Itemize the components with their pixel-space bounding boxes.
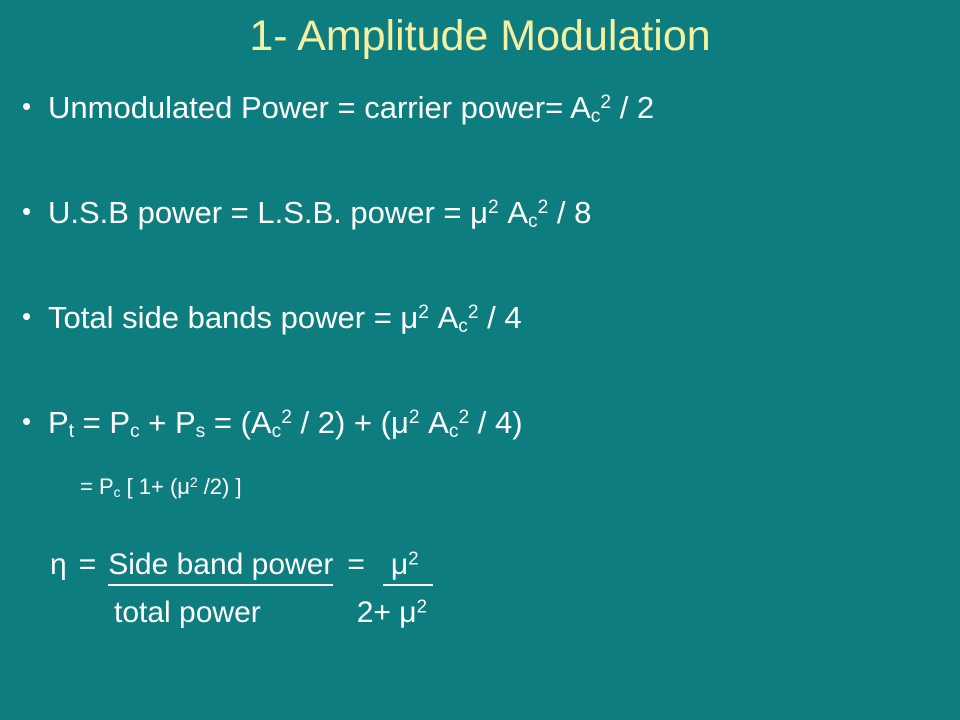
bullet2-post: / 8	[548, 195, 591, 230]
bullet2-pre: U.S.B power = L.S.B. power = μ	[48, 195, 488, 230]
bullet-text: Pt = Pc + Ps = (Ac2 / 2) + (μ2 Ac2 / 4)	[48, 407, 942, 438]
bullet3-superscript-a: 2	[468, 302, 479, 323]
numerator-sideband-power: Side band power	[108, 548, 333, 586]
bullet4-sub-c: c	[130, 421, 140, 442]
denominator-mu-exponent: 2	[417, 595, 427, 616]
bullet4-plus: + P	[140, 405, 196, 440]
numerator-mu-squared: μ2	[383, 548, 433, 586]
subline-mid: [ 1+ (μ	[120, 474, 190, 499]
efficiency-formula: η = Side band power = μ2 total power 2+ …	[22, 548, 942, 630]
bullet4-p: P	[48, 405, 69, 440]
efficiency-denominator-row: total power 2+ μ2	[22, 596, 942, 630]
bullet-item-unmodulated-power: • Unmodulated Power = carrier power= Ac2…	[22, 92, 942, 197]
bullet2-mid: A	[499, 195, 528, 230]
denominator-total-power: total power	[114, 596, 261, 630]
bullet-text: Total side bands power = μ2 Ac2 / 4	[48, 302, 942, 333]
eta-symbol: η	[50, 548, 67, 582]
bullet3-post: / 4	[479, 300, 522, 335]
slide-body: • Unmodulated Power = carrier power= Ac2…	[22, 92, 942, 630]
bullet-dot-icon: •	[22, 407, 48, 437]
efficiency-numerator-row: η = Side band power = μ2	[22, 548, 942, 586]
bullet-text: U.S.B power = L.S.B. power = μ2 Ac2 / 8	[48, 197, 942, 228]
bullet-text: Unmodulated Power = carrier power= Ac2 /…	[48, 92, 942, 123]
subline-pre: = P	[80, 474, 114, 499]
subline-carrier-factored: = Pc [ 1+ (μ2 /2) ]	[80, 474, 942, 500]
bullet4-post: / 4)	[469, 405, 522, 440]
denominator-pre: 2+ μ	[357, 596, 417, 629]
subline-post: /2) ]	[198, 474, 242, 499]
bullet4-mid2: A	[420, 405, 449, 440]
bullet3-subscript: c	[458, 316, 468, 337]
bullet-item-total-sidebands-power: • Total side bands power = μ2 Ac2 / 4	[22, 302, 942, 407]
bullet3-mid: A	[429, 300, 458, 335]
bullet-dot-icon: •	[22, 92, 48, 122]
bullet4-mid: / 2) + (μ	[292, 405, 409, 440]
bullet3-pre: Total side bands power = μ	[48, 300, 418, 335]
bullet1-subscript: c	[591, 106, 601, 127]
numerator-mu-exponent: 2	[408, 547, 418, 568]
equals-sign-2: =	[347, 548, 365, 582]
bullet4-sub-c2: c	[272, 421, 282, 442]
bullet4-sub-c3: c	[449, 421, 459, 442]
bullet4-sup-2c: 2	[458, 407, 469, 428]
bullet4-sub-s: s	[196, 421, 206, 442]
page-title: 1- Amplitude Modulation	[0, 14, 960, 59]
numerator-mu-base: μ	[391, 548, 408, 581]
bullet1-post: / 2	[611, 90, 654, 125]
bullet4-sup-2a: 2	[281, 407, 292, 428]
bullet2-subscript: c	[528, 211, 538, 232]
subline-superscript: 2	[190, 475, 198, 490]
equals-sign-1: =	[79, 548, 97, 582]
bullet-dot-icon: •	[22, 302, 48, 332]
slide-canvas: 1- Amplitude Modulation • Unmodulated Po…	[0, 0, 960, 720]
bullet1-pre: Unmodulated Power = carrier power= A	[48, 90, 591, 125]
bullet3-superscript-mu: 2	[418, 302, 429, 323]
bullet2-superscript-a: 2	[538, 197, 549, 218]
bullet4-eq2: = (A	[205, 405, 271, 440]
denominator-two-plus-mu-squared: 2+ μ2	[357, 596, 427, 630]
bullet-item-sideband-power: • U.S.B power = L.S.B. power = μ2 Ac2 / …	[22, 197, 942, 302]
bullet1-superscript: 2	[600, 92, 611, 113]
bullet4-eq1: = P	[74, 405, 130, 440]
bullet-dot-icon: •	[22, 197, 48, 227]
bullet4-sup-2b: 2	[409, 407, 420, 428]
bullet2-superscript-mu: 2	[488, 197, 499, 218]
